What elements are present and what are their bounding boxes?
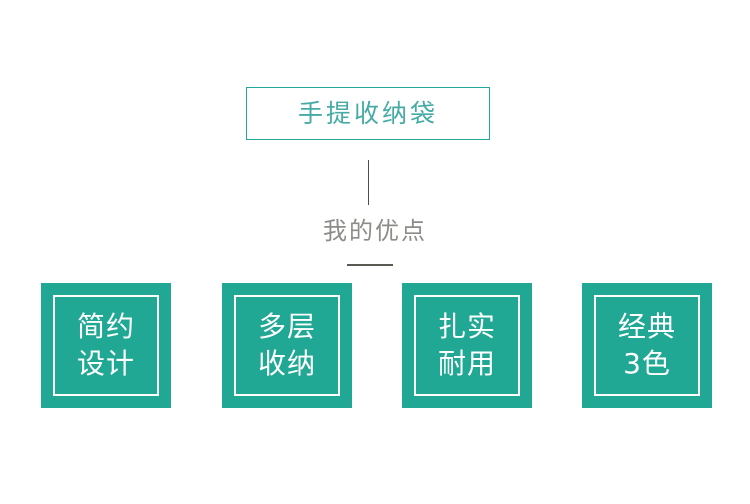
feature-label-line: 多层: [258, 309, 316, 346]
feature-label-line: 设计: [77, 346, 135, 383]
feature-label-line: 经典: [618, 309, 676, 346]
horizontal-rule-icon: [347, 264, 393, 266]
section-subtitle: 我的优点: [0, 217, 750, 246]
feature-label-line: 简约: [77, 309, 135, 346]
feature-label-line: 耐用: [438, 346, 496, 383]
feature-label-line: 3色: [623, 346, 671, 383]
feature-card-inner-border: 扎实 耐用: [414, 295, 520, 396]
product-title-text: 手提收纳袋: [298, 101, 438, 126]
feature-card-1: 多层 收纳: [222, 283, 352, 408]
vertical-line-icon: [368, 160, 369, 205]
feature-card-2: 扎实 耐用: [402, 283, 532, 408]
feature-card-inner-border: 多层 收纳: [234, 295, 340, 396]
product-title-box: 手提收纳袋: [246, 87, 490, 140]
feature-card-inner-border: 简约 设计: [53, 295, 159, 396]
feature-card-3: 经典 3色: [582, 283, 712, 408]
feature-card-0: 简约 设计: [41, 283, 171, 408]
feature-card-inner-border: 经典 3色: [594, 295, 700, 396]
feature-label-line: 扎实: [438, 309, 496, 346]
feature-label-line: 收纳: [258, 346, 316, 383]
